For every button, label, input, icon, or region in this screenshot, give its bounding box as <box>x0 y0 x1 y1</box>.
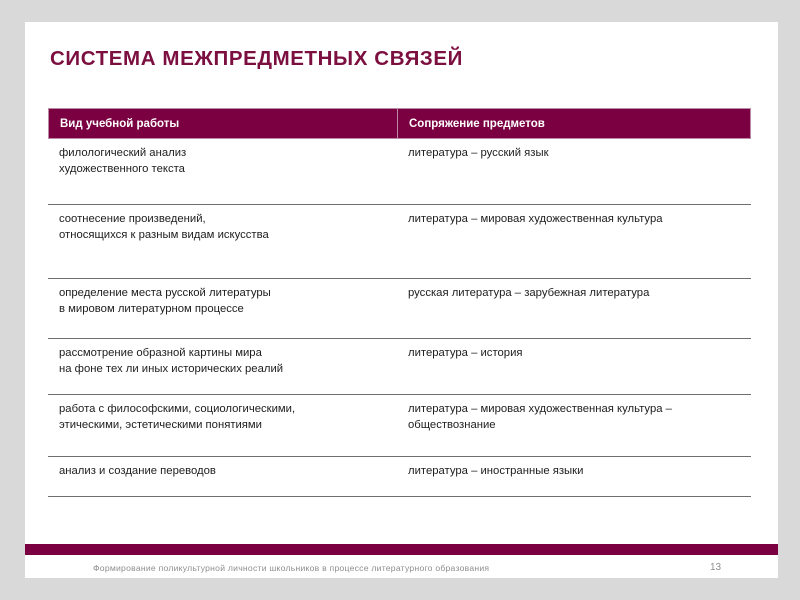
cell-work-type: соотнесение произведений, относящихся к … <box>48 205 397 278</box>
table-bottom-spacer <box>48 497 751 535</box>
table-row: работа с философскими, социологическими,… <box>48 395 751 457</box>
cell-subject-pairing: литература – история <box>397 339 751 394</box>
cell-subject-pairing: литература – мировая художественная куль… <box>397 205 751 278</box>
cell-work-type: анализ и создание переводов <box>48 457 397 496</box>
column-header-subject-pairing: Сопряжение предметов <box>398 109 750 138</box>
page-title: СИСТЕМА МЕЖПРЕДМЕТНЫХ СВЯЗЕЙ <box>50 47 750 71</box>
cell-work-type: рассмотрение образной картины мира на фо… <box>48 339 397 394</box>
table-row: определение места русской литературы в м… <box>48 279 751 339</box>
subject-connections-table: Вид учебной работы Сопряжение предметов … <box>48 108 751 535</box>
table-row: филологический анализ художественного те… <box>48 139 751 205</box>
cell-subject-pairing: литература – иностранные языки <box>397 457 751 496</box>
column-header-work-type: Вид учебной работы <box>49 109 398 138</box>
table-row: соотнесение произведений, относящихся к … <box>48 205 751 279</box>
table-header-row: Вид учебной работы Сопряжение предметов <box>48 108 751 139</box>
cell-work-type: работа с философскими, социологическими,… <box>48 395 397 456</box>
slide-canvas: СИСТЕМА МЕЖПРЕДМЕТНЫХ СВЯЗЕЙ Вид учебной… <box>25 22 778 578</box>
cell-work-type: филологический анализ художественного те… <box>48 139 397 204</box>
footer-caption: Формирование поликультурной личности шко… <box>93 563 489 573</box>
slide-number: 13 <box>710 562 721 573</box>
cell-work-type: определение места русской литературы в м… <box>48 279 397 338</box>
footer-accent-bar <box>25 544 778 555</box>
cell-subject-pairing: литература – русский язык <box>397 139 751 204</box>
cell-subject-pairing: литература – мировая художественная куль… <box>397 395 751 456</box>
table-row: анализ и создание переводов литература –… <box>48 457 751 497</box>
cell-subject-pairing: русская литература – зарубежная литерату… <box>397 279 751 338</box>
table-row: рассмотрение образной картины мира на фо… <box>48 339 751 395</box>
